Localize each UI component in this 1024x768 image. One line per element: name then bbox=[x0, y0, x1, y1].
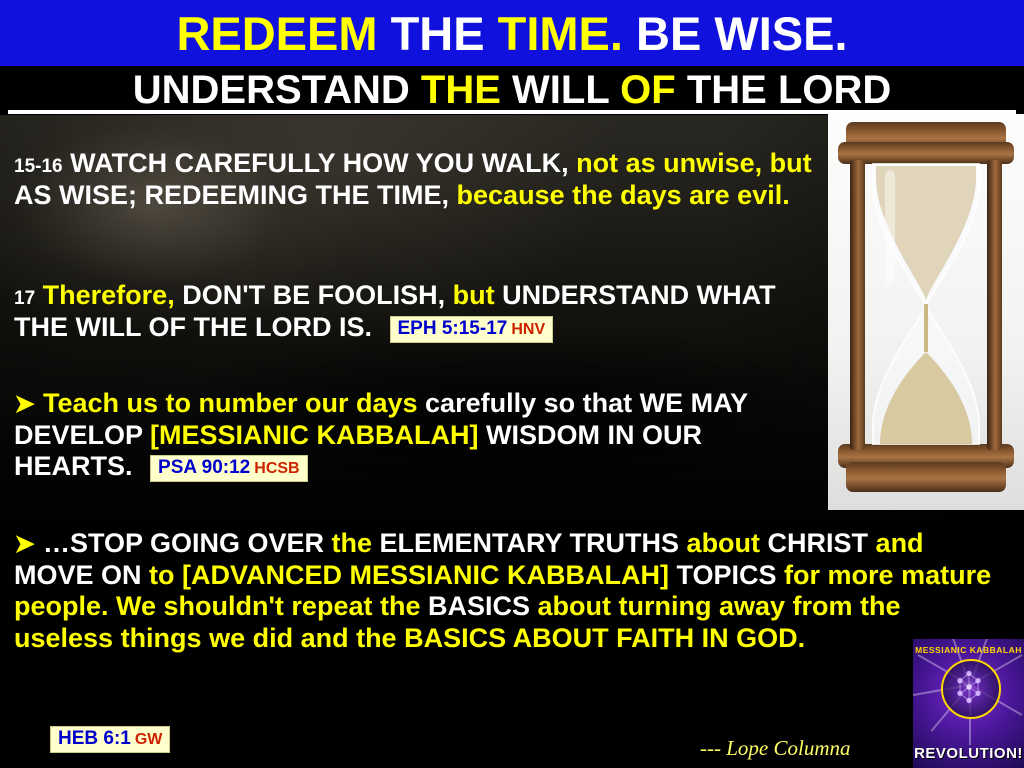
verse-number-17: 17 bbox=[14, 288, 35, 309]
title-part-the: THE bbox=[391, 7, 498, 60]
block2-seg3: but bbox=[453, 280, 502, 310]
reference-badge-psa: PSA 90:12HCSB bbox=[150, 455, 308, 482]
block4-seg2: the bbox=[332, 528, 380, 558]
title-part-redeem: REDEEM bbox=[176, 7, 390, 60]
block4-seg9: [ADVANCED MESSIANIC KABBALAH] bbox=[182, 560, 677, 590]
hourglass-glass bbox=[828, 114, 1024, 510]
block2-seg2: DON'T BE FOOLISH, bbox=[182, 280, 452, 310]
subtitle-bar: UNDERSTAND THE WILL OF THE LORD bbox=[0, 66, 1024, 114]
subtitle-part-understand: UNDERSTAND bbox=[133, 68, 421, 112]
bullet-arrow-icon-2: ➤ bbox=[14, 530, 35, 558]
slide-canvas: REDEEM THE TIME. BE WISE. UNDERSTAND THE… bbox=[0, 0, 1024, 768]
block3-seg1: Teach us to number our days bbox=[43, 388, 425, 418]
reference-badge-heb: HEB 6:1GW bbox=[50, 726, 170, 753]
block1-seg3: AS WISE; REDEEMING THE TIME, bbox=[14, 180, 457, 210]
block4-seg10: TOPICS bbox=[677, 560, 785, 590]
block4-seg5: CHRIST bbox=[768, 528, 876, 558]
subtitle-part-the1: THE bbox=[421, 68, 512, 112]
author-signature: --- Lope Columna bbox=[700, 736, 851, 761]
block1-seg1: WATCH CAREFULLY HOW YOU WALK, bbox=[70, 148, 576, 178]
subtitle-part-the2: THE bbox=[687, 68, 778, 112]
reference-eph-version: HNV bbox=[511, 321, 545, 338]
bullet-arrow-icon-1: ➤ bbox=[14, 390, 35, 418]
logo-bottom-label: REVOLUTION! bbox=[913, 745, 1024, 762]
reference-badge-heb-wrap: HEB 6:1GW bbox=[50, 726, 170, 753]
subtitle-part-will: WILL bbox=[512, 68, 620, 112]
reference-heb-version: GW bbox=[135, 731, 163, 748]
block3-seg4: [MESSIANIC KABBALAH] bbox=[150, 420, 486, 450]
scripture-block-2: 17 Therefore, DON'T BE FOOLISH, but UNDE… bbox=[14, 280, 824, 343]
logo-top-label: MESSIANIC KABBALAH bbox=[913, 645, 1024, 655]
slide-subtitle: UNDERSTAND THE WILL OF THE LORD bbox=[133, 68, 892, 113]
block4-seg12: BASICS bbox=[428, 591, 538, 621]
block4-seg4: about bbox=[687, 528, 768, 558]
block4-seg3: ELEMENTARY TRUTHS bbox=[380, 528, 687, 558]
hourglass-image bbox=[828, 114, 1024, 510]
scripture-block-3: ➤Teach us to number our days carefully s… bbox=[14, 388, 814, 483]
title-bar: REDEEM THE TIME. BE WISE. bbox=[0, 0, 1024, 66]
block4-seg7: MOVE ON bbox=[14, 560, 149, 590]
block4-seg1: …STOP GOING OVER bbox=[43, 528, 332, 558]
scripture-block-1: 15-16 WATCH CAREFULLY HOW YOU WALK, not … bbox=[14, 148, 814, 211]
block3-seg2: carefully so that bbox=[425, 388, 640, 418]
scripture-block-4: ➤…STOP GOING OVER the ELEMENTARY TRUTHS … bbox=[14, 528, 1004, 654]
reference-badge-eph: EPH 5:15-17HNV bbox=[390, 316, 554, 343]
block4-seg8: to bbox=[149, 560, 182, 590]
slide-title: REDEEM THE TIME. BE WISE. bbox=[176, 6, 847, 61]
verse-number-15-16: 15-16 bbox=[14, 156, 63, 177]
tree-of-life-icon bbox=[951, 669, 987, 705]
block2-seg1: Therefore, bbox=[43, 280, 183, 310]
subtitle-part-lord: LORD bbox=[778, 68, 891, 112]
reference-psa-label: PSA 90:12 bbox=[158, 457, 250, 478]
reference-psa-version: HCSB bbox=[254, 460, 299, 477]
reference-heb-label: HEB 6:1 bbox=[58, 728, 131, 749]
block1-seg4: because the days are evil. bbox=[457, 180, 790, 210]
subtitle-part-of: OF bbox=[620, 68, 687, 112]
title-part-time: TIME. bbox=[498, 7, 636, 60]
messianic-kabbalah-logo: MESSIANIC KABBALAH REVOLUTION! bbox=[913, 639, 1024, 768]
block4-seg6: and bbox=[876, 528, 924, 558]
block1-seg2: not as unwise, but bbox=[576, 148, 812, 178]
block4-seg14: BASICS ABOUT FAITH IN GOD. bbox=[404, 623, 805, 653]
reference-eph-label: EPH 5:15-17 bbox=[398, 318, 508, 339]
title-part-bewise: BE WISE. bbox=[636, 7, 848, 60]
